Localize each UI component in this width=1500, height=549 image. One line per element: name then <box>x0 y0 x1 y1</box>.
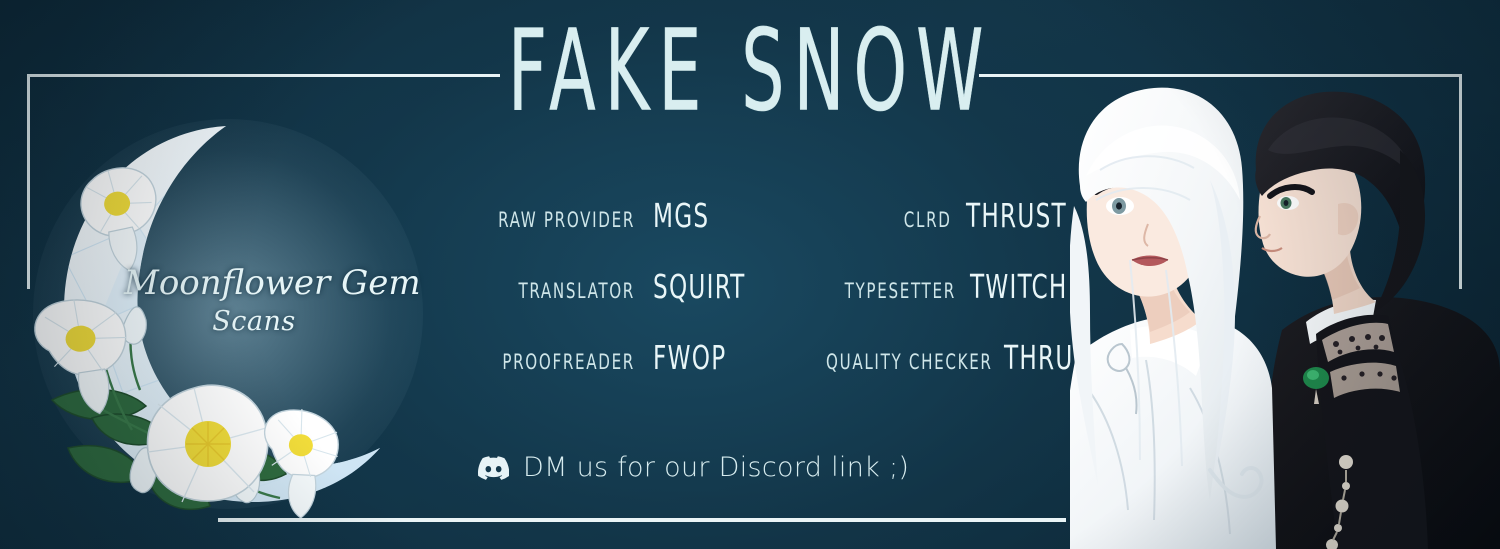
bottom-divider <box>218 518 1066 522</box>
credit-entry-clrd: CLRD THRUST <box>785 196 1095 235</box>
credit-entry-translator: TRANSLATOR SQUIRT <box>455 267 785 306</box>
credit-value: TWITCH <box>970 267 1068 306</box>
page-title: FAKE SNOW <box>508 16 993 128</box>
logo-subtitle: Scans <box>124 308 384 335</box>
credit-value: SQUIRT <box>653 267 746 306</box>
character-artwork <box>1070 0 1500 549</box>
credit-label: RAW PROVIDER <box>491 208 635 232</box>
credits-row: PROOFREADER FWOP QUALITY CHECKER THRUST <box>455 338 1095 409</box>
white-haired-character <box>1070 88 1276 549</box>
credits-banner: FAKE SNOW <box>0 0 1500 549</box>
credit-value: MGS <box>653 196 709 235</box>
discord-text: DM us for our Discord link ;) <box>523 452 909 483</box>
scanlation-group-logo: Moonflower Gem Scans <box>28 118 428 518</box>
credit-value: THRUST <box>966 196 1067 235</box>
credits-list: RAW PROVIDER MGS CLRD THRUST TRANSLATOR … <box>455 196 1095 409</box>
logo-wordmark: Moonflower Gem Scans <box>124 266 384 335</box>
credit-entry-raw-provider: RAW PROVIDER MGS <box>455 196 785 235</box>
credit-entry-quality-checker: QUALITY CHECKER THRUST <box>785 338 1095 377</box>
credit-label: TYPESETTER <box>819 279 956 303</box>
discord-icon <box>478 456 509 480</box>
credit-entry-proofreader: PROOFREADER FWOP <box>455 338 785 377</box>
credits-row: RAW PROVIDER MGS CLRD THRUST <box>455 196 1095 267</box>
credit-entry-typesetter: TYPESETTER TWITCH <box>785 267 1095 306</box>
credit-label: QUALITY CHECKER <box>826 350 990 374</box>
logo-name: Moonflower Gem <box>124 263 421 303</box>
credit-label: PROOFREADER <box>491 350 635 374</box>
credits-row: TRANSLATOR SQUIRT TYPESETTER TWITCH <box>455 267 1095 338</box>
credit-label: CLRD <box>818 208 951 232</box>
credit-label: TRANSLATOR <box>491 279 635 303</box>
dark-haired-character <box>1255 92 1500 549</box>
credit-value: FWOP <box>653 338 726 377</box>
discord-callout[interactable]: DM us for our Discord link ;) <box>478 452 909 483</box>
